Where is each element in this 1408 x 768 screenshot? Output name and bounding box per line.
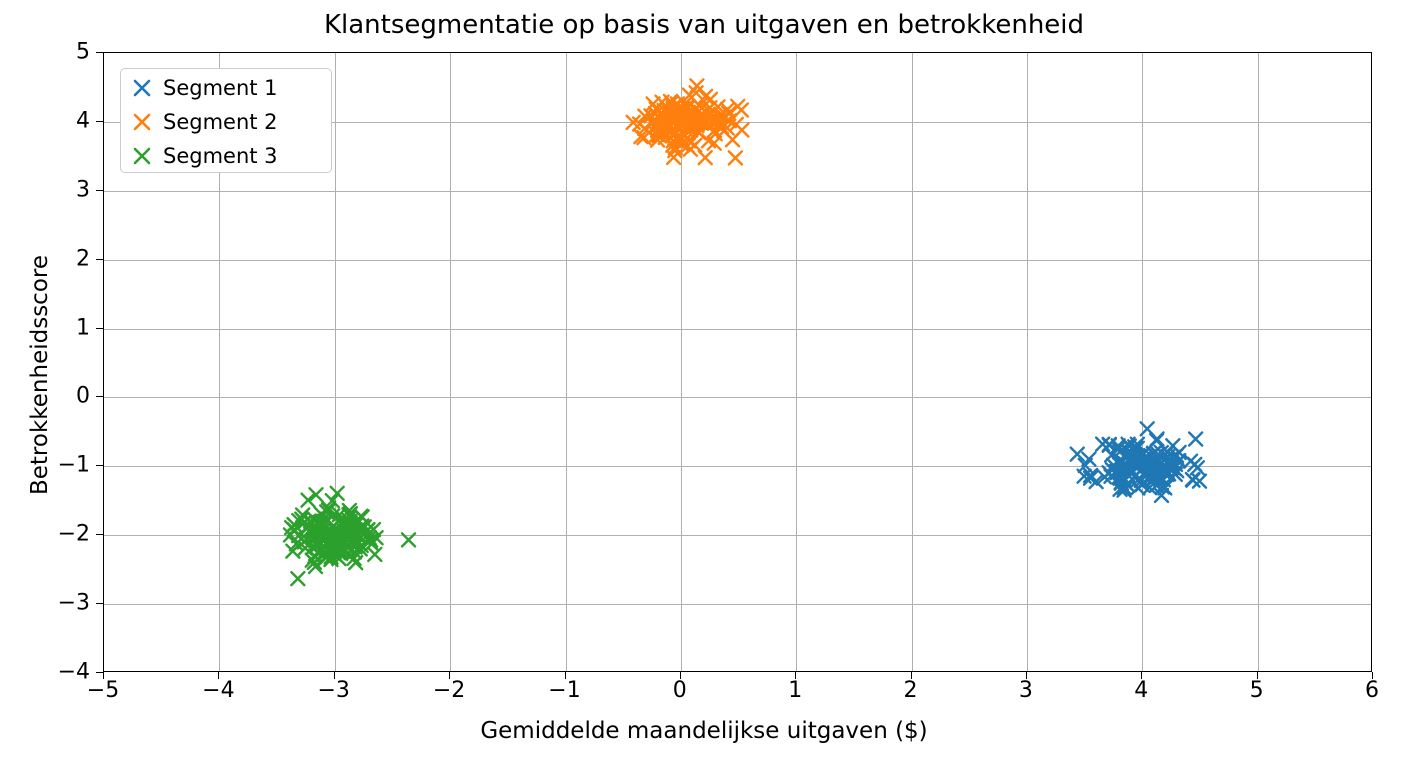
legend-marker-x-icon [121, 105, 163, 139]
x-axis-label: Gemiddelde maandelijkse uitgaven ($) [0, 718, 1408, 744]
scatter-chart-figure: Klantsegmentatie op basis van uitgaven e… [0, 0, 1408, 768]
x-tick-label: 1 [788, 678, 802, 703]
y-tick-mark [96, 328, 103, 329]
y-tick-label: 5 [44, 40, 90, 65]
y-axis-label: Betrokkenheidsscore [27, 65, 53, 685]
series-1-points [1071, 422, 1206, 502]
y-tick-mark [96, 121, 103, 122]
legend-label: Segment 3 [163, 144, 278, 168]
x-tick-label: 4 [1134, 678, 1148, 703]
x-tick-label: −2 [433, 678, 465, 703]
page-title: Klantsegmentatie op basis van uitgaven e… [0, 10, 1408, 40]
legend-label: Segment 1 [163, 76, 278, 100]
x-tick-label: 0 [673, 678, 687, 703]
legend-marker-x-icon [121, 71, 163, 105]
y-tick-mark [96, 465, 103, 466]
x-tick-label: 5 [1250, 678, 1264, 703]
x-tick-label: 3 [1019, 678, 1033, 703]
legend-item-1[interactable]: Segment 1 [121, 70, 333, 105]
legend-item-2[interactable]: Segment 2 [121, 104, 333, 139]
legend-marker-x-icon [121, 139, 163, 173]
x-tick-label: −1 [548, 678, 580, 703]
y-tick-mark [96, 259, 103, 260]
x-tick-label: 2 [904, 678, 918, 703]
x-tick-label: −5 [87, 678, 119, 703]
y-tick-mark [96, 396, 103, 397]
y-tick-mark [96, 190, 103, 191]
x-tick-label: 6 [1365, 678, 1379, 703]
legend-item-3[interactable]: Segment 3 [121, 138, 333, 173]
y-tick-mark [96, 672, 103, 673]
x-tick-label: −3 [317, 678, 349, 703]
legend[interactable]: Segment 1Segment 2Segment 3 [120, 68, 332, 173]
y-tick-mark [96, 52, 103, 53]
y-tick-mark [96, 603, 103, 604]
y-tick-mark [96, 534, 103, 535]
series-2-points [627, 79, 749, 164]
legend-label: Segment 2 [163, 110, 278, 134]
x-tick-label: −4 [202, 678, 234, 703]
series-3-points [284, 487, 415, 585]
